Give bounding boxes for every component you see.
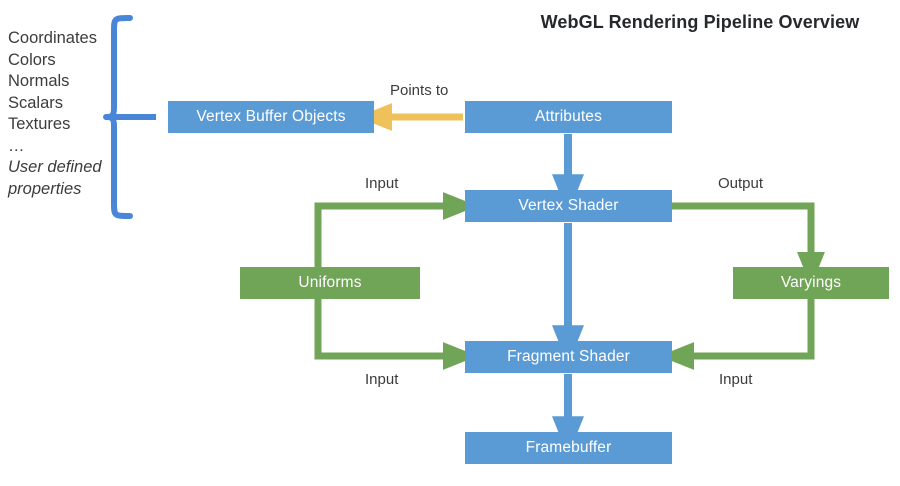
arrow-uniforms-to-vertex-shader [318, 206, 447, 267]
arrow-uniforms-to-fragment-shader [318, 299, 447, 356]
curly-brace-icon [100, 12, 170, 222]
arrow-varyings-to-fragment-shader [690, 299, 811, 356]
node-attributes[interactable]: Attributes [465, 101, 672, 133]
edge-label-input-uniforms-vertex: Input [365, 175, 398, 192]
node-label: Fragment Shader [507, 348, 630, 366]
node-framebuffer[interactable]: Framebuffer [465, 432, 672, 464]
node-label: Varyings [781, 274, 841, 292]
node-varyings[interactable]: Varyings [733, 267, 889, 299]
node-uniforms[interactable]: Uniforms [240, 267, 420, 299]
edge-label-input-varyings-fragment: Input [719, 371, 752, 388]
node-label: Framebuffer [526, 439, 612, 457]
node-label: Vertex Shader [518, 197, 618, 215]
edge-label-points-to: Points to [390, 82, 448, 99]
edge-label-input-uniforms-fragment: Input [365, 371, 398, 388]
node-vertex-buffer-objects[interactable]: Vertex Buffer Objects [168, 101, 374, 133]
arrow-vertex-shader-to-varyings [672, 206, 811, 256]
node-vertex-shader[interactable]: Vertex Shader [465, 190, 672, 222]
page-title: WebGL Rendering Pipeline Overview [510, 12, 890, 33]
node-label: Vertex Buffer Objects [196, 108, 345, 126]
node-label: Attributes [535, 108, 602, 126]
node-fragment-shader[interactable]: Fragment Shader [465, 341, 672, 373]
node-label: Uniforms [298, 274, 361, 292]
edge-label-output-varyings: Output [718, 175, 763, 192]
diagram-canvas: WebGL Rendering Pipeline Overview Coordi… [0, 0, 900, 486]
